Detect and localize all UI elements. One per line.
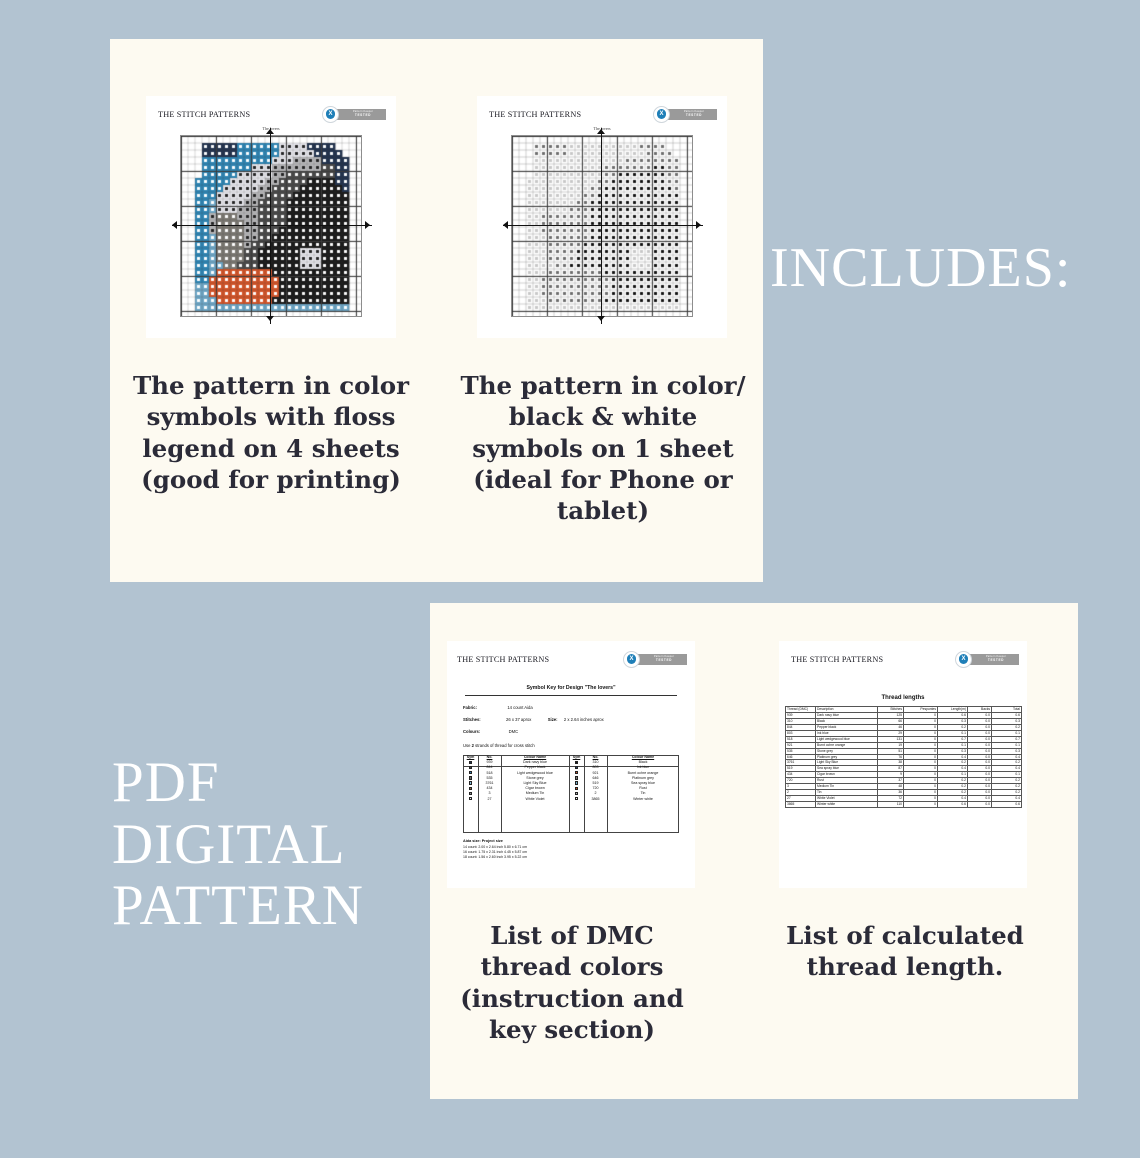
sheet-header: THE STITCH PATTERNS X Pattern Keeper TES… <box>791 651 1019 667</box>
marker-left-icon <box>503 221 508 229</box>
pattern-keeper-tested-badge: X Pattern Keeper TESTED <box>623 651 687 668</box>
thread-length: 0.6 <box>938 802 968 808</box>
strands-note: Use 2 strands of thread for cross stitch <box>463 743 535 748</box>
marker-bottom-icon <box>266 316 274 321</box>
seal-icon: X <box>955 651 972 668</box>
thread-number: 27 <box>478 797 501 802</box>
card-bw-symbol-sheet[interactable]: THE STITCH PATTERNS X Pattern Keeper TES… <box>477 96 727 338</box>
meta-size-label: Size: <box>548 717 558 722</box>
title-rule <box>465 695 677 696</box>
marker-right-icon <box>696 221 701 229</box>
symbol-swatch <box>569 797 584 802</box>
seal-icon: X <box>322 106 339 123</box>
stitch-count: 110 <box>878 802 904 808</box>
sheet-header: THE STITCH PATTERNS X Pattern Keeper TES… <box>489 106 717 122</box>
badge-line-2: TESTED <box>656 659 672 662</box>
caption-color-symbol: The pattern in color symbols with floss … <box>130 370 412 495</box>
cross-stitch-chart-color[interactable]: The lovers <box>146 126 396 331</box>
table-row[interactable]: 27White Violet3865Winter white <box>463 797 679 802</box>
chart-grid[interactable] <box>511 135 693 317</box>
pdf-line-1: PDF <box>112 752 364 814</box>
seal-mark: X <box>326 109 336 119</box>
sheet-header: THE STITCH PATTERNS X Pattern Keeper TES… <box>158 106 386 122</box>
brand-title: THE STITCH PATTERNS <box>791 655 883 664</box>
seal-icon: X <box>653 106 670 123</box>
meta-colours: Colours: DMC <box>463 729 518 734</box>
card-thread-length-sheet[interactable]: THE STITCH PATTERNS X Pattern Keeper TES… <box>779 641 1027 888</box>
includes-heading: INCLUDES: <box>770 238 1071 298</box>
pdf-digital-pattern-heading: PDF DIGITAL PATTERN <box>112 752 364 937</box>
badge-line-2: TESTED <box>988 659 1004 662</box>
table-body: 939Dark navy blue310Black844Pepper black… <box>463 760 679 802</box>
aida-size-title: Aida size: Project size <box>463 839 503 843</box>
strands-note-pre: Use <box>463 743 472 748</box>
thread-description: Winter white <box>816 802 878 808</box>
badge-line-1: Pattern Keeper <box>986 656 1006 659</box>
seal-mark: X <box>657 109 667 119</box>
symbol-key-table[interactable]: SymNo.Colour NameSymNo.Colour Name 939Da… <box>463 755 679 802</box>
strands-note-post: strands of thread for cross stitch <box>474 743 535 748</box>
marker-right-icon <box>365 221 370 229</box>
meta-fabric-value: 14 count Aida <box>507 705 532 710</box>
badge-line-2: TESTED <box>355 114 371 117</box>
meta-fabric: Fabric: 14 count Aida <box>463 705 533 710</box>
meta-colours-value: DMC <box>509 729 519 734</box>
caption-bw-symbol: The pattern in color/ black & white symb… <box>458 370 748 527</box>
thread-lengths-title: Thread lengths <box>779 695 1027 701</box>
backs-length: 0.0 <box>968 802 992 808</box>
brand-title: THE STITCH PATTERNS <box>457 655 549 664</box>
pattern-keeper-tested-badge: X Pattern Keeper TESTED <box>653 106 717 123</box>
backstitch-count: 0 <box>904 802 938 808</box>
symbol-key-table-wrap[interactable]: SymNo.Colour NameSymNo.Colour Name 939Da… <box>463 755 679 833</box>
symbol-swatch <box>463 797 478 802</box>
thread-number: 3865 <box>786 802 816 808</box>
aida-size-block: Aida size: Project size 14 count: 2.00 x… <box>463 839 527 860</box>
seal-mark: X <box>627 654 637 664</box>
brand-title: THE STITCH PATTERNS <box>489 110 581 119</box>
tested-ribbon: Pattern Keeper TESTED <box>967 654 1019 665</box>
meta-colours-label: Colours: <box>463 729 480 734</box>
badge-line-1: Pattern Keeper <box>684 111 704 114</box>
thread-number: 3865 <box>584 797 607 802</box>
marker-top-icon <box>266 129 274 134</box>
sheet-header: THE STITCH PATTERNS X Pattern Keeper TES… <box>457 651 687 667</box>
pdf-line-2: DIGITAL <box>112 814 364 876</box>
center-axis-h <box>503 225 703 226</box>
marker-left-icon <box>172 221 177 229</box>
poster-canvas: THE STITCH PATTERNS X Pattern Keeper TES… <box>0 0 1140 1158</box>
badge-line-2: TESTED <box>686 114 702 117</box>
meta-size-value: 2 x 2.64 inches aprox <box>564 717 604 722</box>
pdf-line-3: PATTERN <box>112 875 364 937</box>
aida-line: 18 count: 1.56 x 2.60 inch 3.95 x 5.22 c… <box>463 855 527 860</box>
center-axis-h <box>172 225 372 226</box>
marker-bottom-icon <box>597 316 605 321</box>
total-length: 0.6 <box>992 802 1022 808</box>
chart-grid[interactable] <box>180 135 362 317</box>
tested-ribbon: Pattern Keeper TESTED <box>665 109 717 120</box>
pattern-keeper-tested-badge: X Pattern Keeper TESTED <box>955 651 1019 668</box>
caption-thread-length: List of calculated thread length. <box>762 920 1048 983</box>
center-axis-v <box>601 128 602 324</box>
table-body: 939Dark navy blue12500.60.00.6310Black66… <box>786 712 1022 807</box>
pattern-keeper-tested-badge: X Pattern Keeper TESTED <box>322 106 386 123</box>
colour-name: Winter white <box>607 797 679 802</box>
meta-fabric-label: Fabric: <box>463 705 477 710</box>
seal-icon: X <box>623 651 640 668</box>
card-symbol-key-sheet[interactable]: THE STITCH PATTERNS X Pattern Keeper TES… <box>447 641 695 888</box>
colour-name: White Violet <box>501 797 569 802</box>
cross-stitch-chart-bw[interactable]: The lovers <box>477 126 727 331</box>
center-axis-v <box>270 128 271 324</box>
card-color-symbol-sheet[interactable]: THE STITCH PATTERNS X Pattern Keeper TES… <box>146 96 396 338</box>
tested-ribbon: Pattern Keeper TESTED <box>334 109 386 120</box>
badge-line-1: Pattern Keeper <box>353 111 373 114</box>
meta-stitches-value: 26 x 37 aprox <box>506 717 531 722</box>
chart-artwork <box>181 136 362 317</box>
tested-ribbon: Pattern Keeper TESTED <box>635 654 687 665</box>
chart-artwork <box>512 136 693 317</box>
table-row[interactable]: 3865Winter white11000.60.00.6 <box>786 802 1022 808</box>
marker-top-icon <box>597 129 605 134</box>
thread-lengths-table[interactable]: Thread (DMC)DescriptionStitchesPespuntes… <box>785 706 1022 808</box>
symbol-key-title: Symbol Key for Design "The lovers" <box>447 685 695 691</box>
brand-title: THE STITCH PATTERNS <box>158 110 250 119</box>
caption-dmc-list: List of DMC thread colors (instruction a… <box>452 920 692 1045</box>
meta-stitches: Stitches: 26 x 37 aprox Size: 2 x 2.64 i… <box>463 717 604 722</box>
badge-line-1: Pattern Keeper <box>654 656 674 659</box>
seal-mark: X <box>959 654 969 664</box>
meta-stitches-label: Stitches: <box>463 717 481 722</box>
